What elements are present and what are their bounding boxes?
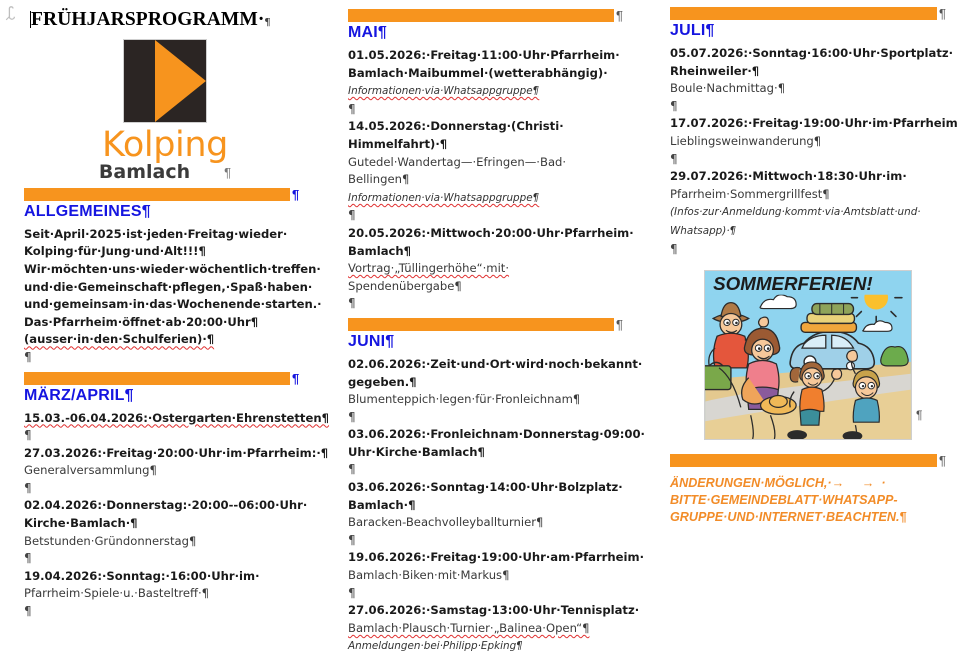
text-line: (ausser·in·den·Schulferien)·¶ xyxy=(24,332,214,346)
orange-rule xyxy=(348,318,614,331)
text-line: 02.06.2026:·Zeit·und·Ort·wird·noch·bekan… xyxy=(348,357,642,371)
middle-column-content: ¶ MAI¶ 01.05.2026:·Freitag·11:00·Uhr·Pfa… xyxy=(330,9,660,656)
text-line: Pfarrheim·Sommergrillfest¶ xyxy=(670,187,830,201)
text-line: Vortrag·„Tüllingerhöhe“·mit· xyxy=(348,261,509,275)
orange-rule xyxy=(670,454,937,467)
text-line: Bamlach·¶ xyxy=(348,498,415,512)
pilcrow-mark: ¶ xyxy=(348,208,356,222)
section-heading-juni: JUNI¶ xyxy=(348,333,638,351)
text-line: und·gemeinsam·in·das·Wochenende·starten.… xyxy=(24,297,322,311)
pilcrow-mark: ¶ xyxy=(670,99,678,113)
pilcrow-mark: ¶ xyxy=(348,533,356,547)
text-line: Gutedel·Wandertag—·Efringen—·Bad· xyxy=(348,155,566,169)
arrow-icon: → xyxy=(862,476,875,490)
text-line: 27.03.2026:·Freitag·20:00·Uhr·im·Pfarrhe… xyxy=(24,446,328,460)
orange-rule xyxy=(348,9,614,22)
section-body-maerz-april: 15.03.-06.04.2026:·Ostergarten·Ehrenstet… xyxy=(24,410,308,621)
text-line: 03.06.2026:·Sonntag·14:00·Uhr·Bolzplatz· xyxy=(348,480,623,494)
text-line: 01.05.2026:·Freitag·11:00·Uhr·Pfarrheim· xyxy=(348,48,620,62)
text-line: Kolping·für·Jung·und·Alt!!!¶ xyxy=(24,244,206,258)
text-line: Spendenübergabe¶ xyxy=(348,279,462,293)
text-line: Himmelfahrt)·¶ xyxy=(348,137,447,151)
section-heading-mai: MAI¶ xyxy=(348,24,638,42)
text-line: 19.04.2026:·Sonntag:·16:00·Uhr·im· xyxy=(24,569,259,583)
pilcrow-mark: ¶ xyxy=(24,428,32,442)
orange-rule xyxy=(670,7,937,20)
text-line: 05.07.2026:·Sonntag·16:00·Uhr·Sportplatz… xyxy=(670,46,953,60)
text-line: 15.03.-06.04.2026:·Ostergarten·Ehrenstet… xyxy=(24,411,329,425)
text-line: Bamlach·Plausch·Turnier·„Balinea·Open“¶ xyxy=(348,621,589,635)
text-line: Informationen·via·Whatsappgruppe¶ xyxy=(348,85,539,97)
text-line: Rheinweiler·¶ xyxy=(670,64,759,78)
section-body-mai: 01.05.2026:·Freitag·11:00·Uhr·Pfarrheim·… xyxy=(348,47,638,313)
text-line: Betstunden·Gründonnerstag¶ xyxy=(24,534,196,548)
column-right: ¶ JULI¶ 05.07.2026:·Sonntag·16:00·Uhr·Sp… xyxy=(660,0,958,661)
text-line: 17.07.2026:·Freitag·19:00·Uhr·im·Pfarrhe… xyxy=(670,116,958,130)
text-line: und·die·Gemeinschaft·pflegen,·Spaß·haben… xyxy=(24,280,312,294)
pilcrow-mark: ¶ xyxy=(265,16,271,28)
text-line: 20.05.2026:·Mittwoch·20:00·Uhr·Pfarrheim… xyxy=(348,226,634,240)
pilcrow-mark: ¶ xyxy=(224,165,231,180)
orange-rule xyxy=(24,188,290,201)
text-line: 29.07.2026:·Mittwoch·18:30·Uhr·im· xyxy=(670,169,907,183)
text-line: gegeben.¶ xyxy=(348,375,417,389)
text-line: Generalversammlung¶ xyxy=(24,463,157,477)
closing-note: ÄNDERUNGEN·MÖGLICH,·→ → · BITTE·GEMEINDE… xyxy=(670,475,946,526)
text-line: 27.06.2026:·Samstag·13:00·Uhr·Tennisplat… xyxy=(348,603,639,617)
text-line: Bellingen¶ xyxy=(348,172,409,186)
text-line: Anmeldungen·bei·Philipp·Epking¶ xyxy=(348,640,523,652)
illustration-caption: SOMMERFERIEN! xyxy=(713,273,873,294)
orange-rule xyxy=(24,372,290,385)
closing-note-line-1: ÄNDERUNGEN·MÖGLICH,· xyxy=(670,476,832,490)
pilcrow-mark: ¶ xyxy=(348,102,356,116)
closing-note-line-2: BITTE·GEMEINDEBLATT·WHATSAPP- xyxy=(670,492,946,509)
text-line: Lieblingsweinwanderung¶ xyxy=(670,134,821,148)
text-line: Pfarrheim·Spiele·u.·Basteltreff·¶ xyxy=(24,586,209,600)
section-bar-maerz-april: ¶ xyxy=(24,372,308,385)
text-line: Bamlach¶ xyxy=(348,244,411,258)
pilcrow-mark: ¶ xyxy=(670,152,678,166)
section-body-allgemeines: Seit·April·2025·ist·jeden·Freitag·wieder… xyxy=(24,226,308,367)
kolping-k-mark xyxy=(123,39,207,123)
text-line: Informationen·via·Whatsappgruppe¶ xyxy=(348,192,539,204)
page-title: FRÜHJARSPROGRAMM·¶ xyxy=(0,0,330,31)
column-middle: ¶ MAI¶ 01.05.2026:·Freitag·11:00·Uhr·Pfa… xyxy=(330,0,660,661)
text-line: Boule·Nachmittag·¶ xyxy=(670,81,785,95)
pilcrow-mark: ¶ xyxy=(24,481,32,495)
pilcrow-mark: ¶ xyxy=(939,454,946,467)
section-bar-allgemeines: ¶ xyxy=(24,188,308,201)
section-body-juli: 05.07.2026:·Sonntag·16:00·Uhr·Sportplatz… xyxy=(670,45,946,258)
arrow-icon: → xyxy=(832,476,845,490)
pilcrow-mark: ¶ xyxy=(348,296,356,310)
text-line: Blumenteppich·legen·für·Fronleichnam¶ xyxy=(348,392,580,406)
section-bar-juni: ¶ xyxy=(348,318,638,331)
section-bar-mai: ¶ xyxy=(348,9,638,22)
anchor-icon xyxy=(4,6,18,22)
section-heading-allgemeines: ALLGEMEINES¶ xyxy=(24,203,308,221)
text-line: 03.06.2026:·Fronleichnam·Donnerstag·09:0… xyxy=(348,427,645,441)
pilcrow-mark: ¶ xyxy=(24,604,32,618)
text-line: 02.04.2026:·Donnerstag:·20:00--06:00·Uhr… xyxy=(24,498,307,512)
text-line: Das·Pfarrheim·öffnet·ab·20:00·Uhr¶ xyxy=(24,315,258,329)
illustration-row: SOMMERFERIEN! ¶ xyxy=(670,258,946,440)
sommerferien-illustration: SOMMERFERIEN! xyxy=(704,270,912,440)
pilcrow-mark: ¶ xyxy=(616,318,623,331)
pilcrow-mark: ¶ xyxy=(348,410,356,424)
column-left: FRÜHJARSPROGRAMM·¶ Kolping Bamlach¶ ¶ AL… xyxy=(0,0,330,661)
section-bar-closing: ¶ xyxy=(670,454,946,467)
text-line: Seit·April·2025·ist·jeden·Freitag·wieder… xyxy=(24,227,287,241)
document-page: FRÜHJARSPROGRAMM·¶ Kolping Bamlach¶ ¶ AL… xyxy=(0,0,958,661)
text-line: Bamlach·Maibummel·(wetterabhängig)· xyxy=(348,66,608,80)
text-line: (Infos·zur·Anmeldung·kommt·via·Amtsblatt… xyxy=(670,206,921,218)
section-bar-juli: ¶ xyxy=(670,7,946,20)
sommerferien-artwork: SOMMERFERIEN! xyxy=(705,271,911,439)
page-title-text: FRÜHJARSPROGRAMM· xyxy=(31,9,265,30)
pilcrow-mark: ¶ xyxy=(670,242,678,256)
closing-note-line-1-end: · xyxy=(881,476,885,490)
kolping-wordmark: Kolping xyxy=(0,127,330,164)
pilcrow-mark: ¶ xyxy=(348,586,356,600)
text-line: 14.05.2026:·Donnerstag·(Christi· xyxy=(348,119,564,133)
pilcrow-mark: ¶ xyxy=(616,9,623,22)
section-heading-maerz-april: MÄRZ/APRIL¶ xyxy=(24,387,308,405)
pilcrow-mark: ¶ xyxy=(24,551,32,565)
kolping-logo: Kolping Bamlach¶ xyxy=(0,39,330,183)
text-line: Whatsapp)·¶ xyxy=(670,225,736,237)
text-line: Kirche·Bamlach·¶ xyxy=(24,516,138,530)
left-column-content: ¶ ALLGEMEINES¶ Seit·April·2025·ist·jeden… xyxy=(0,188,330,621)
pilcrow-mark: ¶ xyxy=(292,188,299,201)
pilcrow-mark: ¶ xyxy=(24,350,32,364)
section-heading-juli: JULI¶ xyxy=(670,22,946,40)
text-line: Baracken-Beachvolleyballturnier¶ xyxy=(348,515,543,529)
pilcrow-mark: ¶ xyxy=(939,7,946,20)
text-line: Uhr·Kirche·Bamlach¶ xyxy=(348,445,485,459)
pilcrow-mark: ¶ xyxy=(916,408,922,422)
kolping-branch-name: Bamlach xyxy=(99,162,190,183)
section-body-juni: 02.06.2026:·Zeit·und·Ort·wird·noch·bekan… xyxy=(348,356,638,656)
closing-note-line-3: GRUPPE·UND·INTERNET·BEACHTEN.¶ xyxy=(670,509,946,526)
right-column-content: ¶ JULI¶ 05.07.2026:·Sonntag·16:00·Uhr·Sp… xyxy=(660,7,958,526)
pilcrow-mark: ¶ xyxy=(292,372,299,385)
text-line: 19.06.2026:·Freitag·19:00·Uhr·am·Pfarrhe… xyxy=(348,550,644,564)
text-line: Wir·möchten·uns·wieder·wöchentlich·treff… xyxy=(24,262,321,276)
text-line: Bamlach·Biken·mit·Markus¶ xyxy=(348,568,509,582)
pilcrow-mark: ¶ xyxy=(348,462,356,476)
